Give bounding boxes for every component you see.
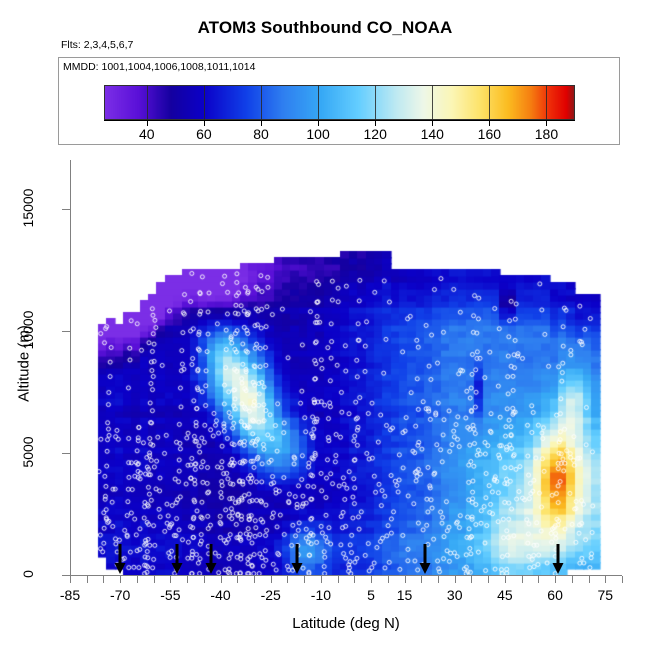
x-axis-tick <box>371 576 372 583</box>
colorbar-tick-label: 160 <box>478 126 501 142</box>
x-axis-tick <box>538 576 539 583</box>
y-axis-tick <box>62 575 70 576</box>
x-axis-tick-label: 5 <box>367 587 375 603</box>
x-axis-tick <box>120 576 121 583</box>
x-axis-tick-label: -55 <box>160 587 180 603</box>
y-axis-tick <box>62 209 70 210</box>
heatmap-canvas <box>70 160 622 575</box>
colorbar-segment-divider <box>489 85 490 120</box>
y-axis-tick-label: 0 <box>20 544 36 604</box>
x-axis-tick-label: 75 <box>597 587 613 603</box>
x-axis-tick-label: 15 <box>397 587 413 603</box>
x-axis-tick <box>271 576 272 583</box>
x-axis-tick <box>70 576 71 583</box>
x-axis-tick <box>438 576 439 583</box>
colorbar-segment-divider <box>318 85 319 120</box>
x-axis-tick <box>572 576 573 583</box>
x-axis-tick <box>421 576 422 583</box>
x-axis-tick <box>304 576 305 583</box>
x-axis-tick <box>455 576 456 583</box>
x-axis-tick <box>505 576 506 583</box>
x-axis-tick <box>154 576 155 583</box>
colorbar-segment-divider <box>546 85 547 120</box>
x-axis-tick <box>522 576 523 583</box>
x-axis-tick-label: -70 <box>110 587 130 603</box>
x-axis-tick <box>488 576 489 583</box>
x-axis-tick <box>354 576 355 583</box>
chart-figure: ATOM3 Southbound CO_NOAA Flts: 2,3,4,5,6… <box>0 0 650 650</box>
colorbar-segment-divider <box>147 85 148 120</box>
x-axis-title: Latitude (deg N) <box>70 615 622 632</box>
colorbar-tick-label: 80 <box>253 126 269 142</box>
y-axis-tick <box>62 453 70 454</box>
y-axis-tick <box>62 331 70 332</box>
y-axis-tick-label: 10000 <box>20 300 36 360</box>
x-axis-tick-label: 60 <box>547 587 563 603</box>
colorbar-tick-label: 180 <box>535 126 558 142</box>
colorbar-segment-divider <box>432 85 433 120</box>
y-axis-tick-label: 15000 <box>20 178 36 238</box>
x-axis-tick-label: -25 <box>261 587 281 603</box>
x-axis-tick-label: -40 <box>210 587 230 603</box>
x-axis-tick-label: 45 <box>497 587 513 603</box>
mmdd-annotation: MMDD: 1001,1004,1006,1008,1011,1014 <box>63 61 255 73</box>
x-axis-tick <box>605 576 606 583</box>
x-axis-tick <box>388 576 389 583</box>
x-axis-tick <box>555 576 556 583</box>
y-axis-line <box>70 160 71 576</box>
x-axis-tick <box>321 576 322 583</box>
x-axis-tick <box>405 576 406 583</box>
x-axis-tick <box>589 576 590 583</box>
x-axis-tick-label: -85 <box>60 587 80 603</box>
x-axis-tick <box>204 576 205 583</box>
colorbar <box>104 85 575 120</box>
x-axis-tick <box>187 576 188 583</box>
x-axis-tick <box>103 576 104 583</box>
colorbar-segment-divider <box>261 85 262 120</box>
colorbar-gradient <box>104 85 575 120</box>
x-axis-tick <box>287 576 288 583</box>
chart-title: ATOM3 Southbound CO_NOAA <box>0 18 650 38</box>
colorbar-tick-label: 120 <box>363 126 386 142</box>
x-axis-tick <box>170 576 171 583</box>
colorbar-segment-divider <box>375 85 376 120</box>
x-axis-tick <box>622 576 623 583</box>
colorbar-tick-label: 100 <box>306 126 329 142</box>
flights-annotation: Flts: 2,3,4,5,6,7 <box>61 39 133 51</box>
x-axis-tick <box>338 576 339 583</box>
y-axis-tick-label: 5000 <box>20 422 36 482</box>
x-axis-tick <box>237 576 238 583</box>
x-axis-tick <box>221 576 222 583</box>
colorbar-axis: 406080100120140160180 <box>104 120 575 144</box>
x-axis-tick <box>87 576 88 583</box>
x-axis-tick <box>254 576 255 583</box>
heatmap-plot <box>70 160 622 575</box>
colorbar-tick-label: 60 <box>196 126 212 142</box>
colorbar-segment-divider <box>204 85 205 120</box>
x-axis-tick <box>137 576 138 583</box>
colorbar-tick-label: 40 <box>139 126 155 142</box>
x-axis-tick <box>471 576 472 583</box>
colorbar-axis-line <box>104 120 575 121</box>
x-axis-tick-label: 30 <box>447 587 463 603</box>
x-axis-tick-label: -10 <box>311 587 331 603</box>
colorbar-tick-label: 140 <box>421 126 444 142</box>
